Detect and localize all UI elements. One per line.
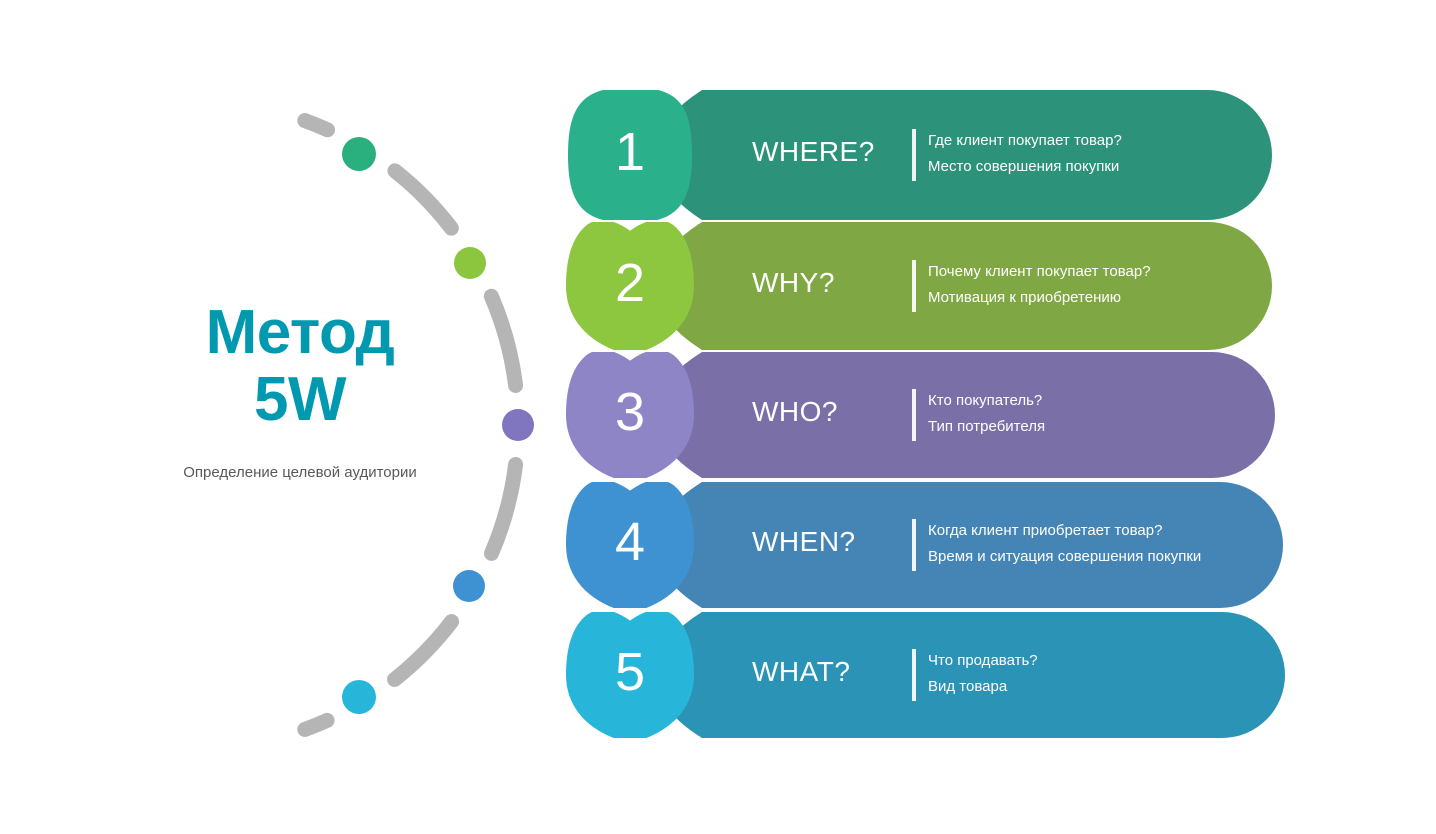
row-keyword: WHO? — [752, 396, 838, 428]
method-row[interactable]: 4WHEN?Когда клиент приобретает товар?Вре… — [560, 482, 1287, 608]
row-content: 2WHY?Почему клиент покупает товар?Мотива… — [560, 222, 1276, 350]
row-divider — [912, 649, 916, 701]
method-row[interactable]: 5WHAT?Что продавать?Вид товара — [560, 612, 1289, 738]
row-description: Где клиент покупает товар?Место совершен… — [928, 128, 1122, 180]
row-content: 1WHERE?Где клиент покупает товар?Место с… — [560, 90, 1276, 220]
row-divider — [912, 389, 916, 441]
row-keyword: WHERE? — [752, 136, 875, 168]
arc-segment — [491, 296, 515, 385]
slide-canvas: Метод 5W Определение целевой аудитории 1… — [0, 0, 1436, 834]
row-description-line-1: Где клиент покупает товар? — [928, 128, 1122, 154]
row-divider — [912, 519, 916, 571]
dot-1 — [342, 137, 376, 171]
page-title: Метод 5W — [150, 300, 450, 434]
row-keyword: WHAT? — [752, 656, 850, 688]
row-divider — [912, 260, 916, 312]
row-keyword: WHEN? — [752, 526, 856, 558]
row-description-line-2: Вид товара — [928, 674, 1038, 700]
row-description-line-2: Место совершения покупки — [928, 154, 1122, 180]
method-row[interactable]: 1WHERE?Где клиент покупает товар?Место с… — [560, 90, 1276, 220]
page-subtitle: Определение целевой аудитории — [150, 462, 450, 484]
row-description-line-1: Когда клиент приобретает товар? — [928, 518, 1201, 544]
method-row[interactable]: 2WHY?Почему клиент покупает товар?Мотива… — [560, 222, 1276, 350]
row-number: 3 — [550, 385, 710, 439]
row-description-line-2: Тип потребителя — [928, 414, 1045, 440]
arc-segment — [395, 171, 451, 228]
row-description-line-1: Кто покупатель? — [928, 388, 1045, 414]
row-keyword: WHY? — [752, 267, 835, 299]
arc-segment — [305, 121, 328, 130]
row-number: 4 — [550, 515, 710, 569]
dot-2 — [454, 247, 486, 279]
row-description-line-2: Мотивация к приобретению — [928, 285, 1151, 311]
arc-segment — [395, 622, 452, 680]
title-block: Метод 5W Определение целевой аудитории — [150, 300, 450, 484]
row-number: 5 — [550, 645, 710, 699]
row-content: 5WHAT?Что продавать?Вид товара — [560, 612, 1289, 738]
row-description: Кто покупатель?Тип потребителя — [928, 388, 1045, 440]
dot-5 — [342, 680, 376, 714]
row-description: Когда клиент приобретает товар?Время и с… — [928, 518, 1201, 570]
arc-segment — [305, 720, 327, 729]
row-number: 2 — [550, 256, 710, 310]
row-content: 3WHO?Кто покупатель?Тип потребителя — [560, 352, 1279, 478]
row-divider — [912, 129, 916, 181]
dot-3 — [502, 409, 534, 441]
row-description-line-1: Что продавать? — [928, 648, 1038, 674]
method-row[interactable]: 3WHO?Кто покупатель?Тип потребителя — [560, 352, 1279, 478]
dot-4 — [453, 570, 485, 602]
row-description: Что продавать?Вид товара — [928, 648, 1038, 700]
row-description-line-1: Почему клиент покупает товар? — [928, 259, 1151, 285]
row-content: 4WHEN?Когда клиент приобретает товар?Вре… — [560, 482, 1287, 608]
row-number: 1 — [550, 125, 710, 179]
arc-segment — [491, 464, 515, 553]
row-description: Почему клиент покупает товар?Мотивация к… — [928, 259, 1151, 311]
row-description-line-2: Время и ситуация совершения покупки — [928, 544, 1201, 570]
